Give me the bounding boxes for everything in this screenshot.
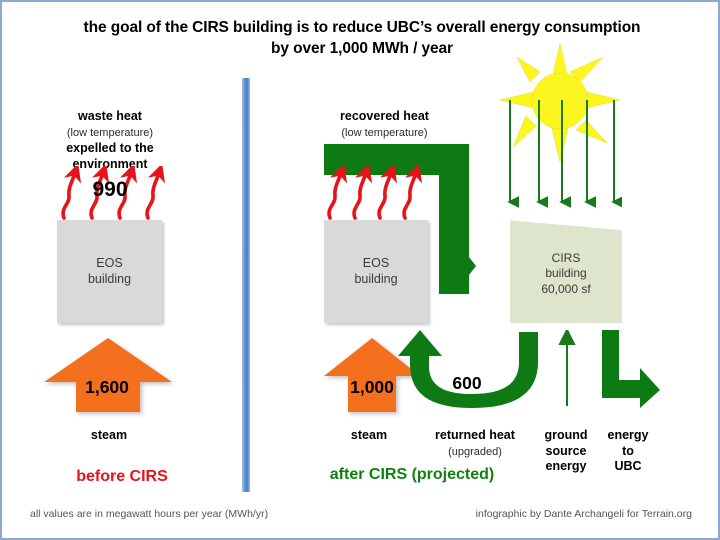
cirs-building: CIRS building 60,000 sf [510, 215, 622, 323]
before-cirs-heading: before CIRS [32, 468, 212, 486]
solar-energy-arrows-icon [502, 98, 622, 214]
energy-to-ubc-arrow-icon [600, 330, 660, 408]
section-divider [242, 78, 250, 492]
after-cirs-heading: after CIRS (projected) [292, 466, 532, 484]
cirs-building-label: CIRS building 60,000 sf [541, 241, 590, 298]
ubc-line-1: energy [608, 428, 649, 442]
recovered-heat-sub: (low temperature) [341, 127, 427, 139]
returned-heat-value: 600 [424, 373, 510, 394]
waste-heat-label: waste heat (low temperature) expelled to… [30, 108, 190, 172]
waste-heat-value: 990 [80, 178, 140, 202]
infographic-canvas: the goal of the CIRS building is to redu… [0, 0, 720, 540]
returned-heat-line-1: returned heat [435, 428, 515, 442]
waste-heat-sub: (low temperature) [67, 127, 153, 139]
returned-heat-sub: (upgraded) [448, 446, 502, 458]
steam-label-after: steam [324, 428, 414, 442]
eos-building-before: EOS building [57, 220, 162, 323]
cirs-line-2: building [545, 266, 586, 280]
eos-after-line-2: building [354, 272, 397, 286]
ground-source-energy-label: ground source energy [532, 428, 600, 475]
ground-line-2: source [546, 444, 587, 458]
ubc-line-3: UBC [614, 459, 641, 473]
steam-value-after: 1,000 [324, 377, 420, 398]
ground-line-3: energy [546, 459, 587, 473]
eos-after-line-1: EOS [363, 256, 389, 270]
title-line-1: the goal of the CIRS building is to redu… [84, 19, 641, 36]
returned-heat-label: returned heat (upgraded) [410, 428, 540, 459]
eos-building-after: EOS building [324, 220, 428, 323]
eos-before-line-1: EOS [96, 256, 122, 270]
waste-heat-line-2: expelled to the [66, 141, 154, 155]
cirs-line-3: 60,000 sf [541, 282, 590, 296]
ground-line-1: ground [544, 428, 587, 442]
recovered-heat-line-1: recovered heat [340, 109, 429, 123]
title-line-2: by over 1,000 MWh / year [271, 40, 453, 57]
ground-source-arrow-icon [554, 330, 580, 406]
returned-heat-curved-arrow-icon [396, 328, 548, 414]
ubc-line-2: to [622, 444, 634, 458]
recovered-heat-squiggle-arrows-icon [324, 166, 442, 222]
footer-units-note: all values are in megawatt hours per yea… [30, 508, 268, 520]
steam-value-before: 1,600 [57, 377, 157, 398]
footer-credit: infographic by Dante Archangeli for Terr… [476, 508, 692, 520]
waste-heat-line-1: waste heat [78, 109, 142, 123]
energy-to-ubc-label: energy to UBC [598, 428, 658, 475]
steam-label-before: steam [64, 428, 154, 442]
cirs-line-1: CIRS [552, 251, 581, 265]
recovered-heat-label: recovered heat (low temperature) [302, 108, 467, 140]
steam-arrow-before-icon [42, 336, 174, 414]
eos-before-line-2: building [88, 272, 131, 286]
